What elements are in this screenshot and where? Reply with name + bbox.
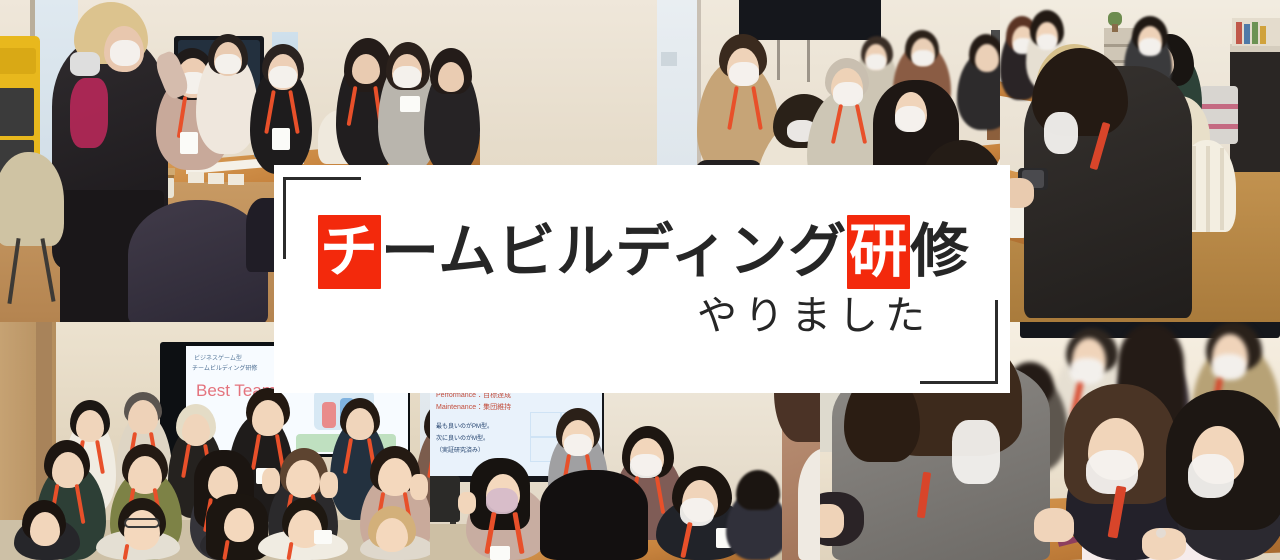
whiteboard-line-2: Maintenance：集団維持 (436, 404, 511, 413)
photo-top-right (1000, 0, 1280, 322)
whiteboard-line-1: Performance：目標達成 (436, 392, 511, 401)
whiteboard-line-5: （実証研究済み） (436, 448, 484, 456)
whiteboard-line-4: 次に良いのがM型。 (436, 436, 489, 444)
headline-highlight-ken: 研 (847, 215, 910, 289)
headline-line-1: チームビルディング研修 (318, 218, 978, 284)
headline-plain-shuu: 修 (910, 217, 969, 285)
whiteboard-line-3: 最も良いのがPM型。 (436, 424, 493, 432)
hero-banner: 準備いたしま (0, 0, 1280, 560)
headline-plain-teambuilding: ームビルディング (381, 217, 847, 285)
headline: チームビルディング研修 やりました (318, 218, 978, 340)
slide-line-1: ビジネスゲーム型 (194, 356, 242, 364)
slide-line-2: チームビルディング研修 (192, 366, 257, 374)
headline-highlight-chi: チ (318, 215, 381, 289)
headline-line-2: やりました (318, 292, 978, 340)
